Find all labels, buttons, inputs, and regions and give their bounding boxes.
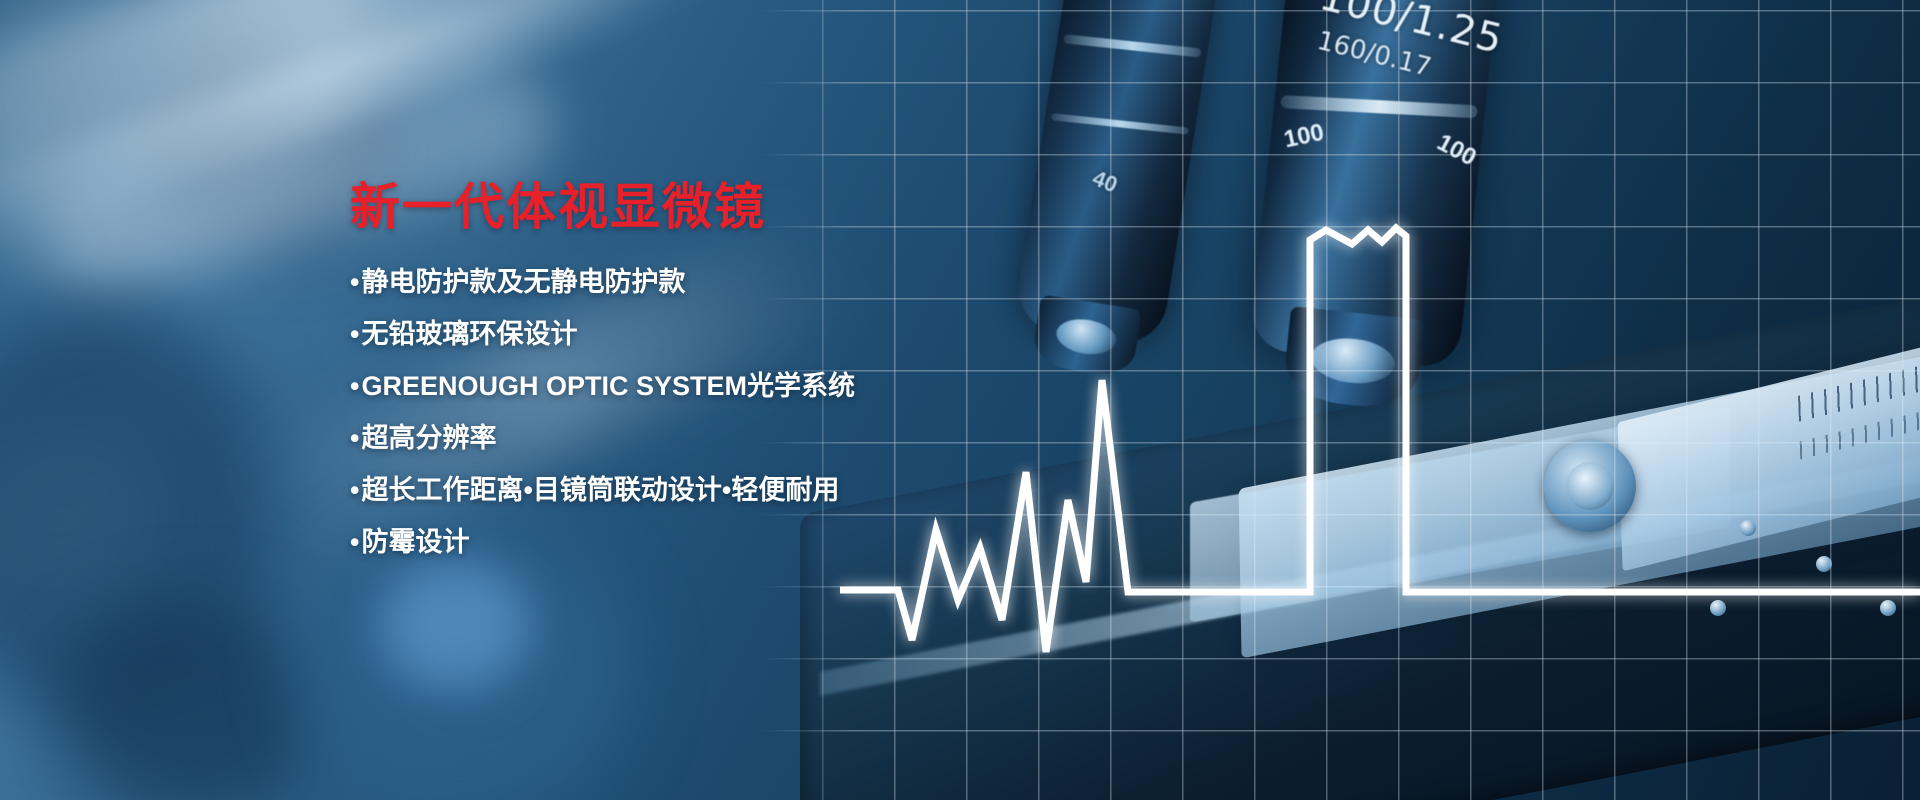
stage-screw	[1710, 600, 1726, 616]
list-item: •防霉设计	[350, 529, 1070, 556]
list-item-label: 超高分辨率	[361, 423, 496, 453]
feature-list: •静电防护款及无静电防护款 •无铅玻璃环保设计 •GREENOUGH OPTIC…	[350, 269, 1070, 556]
list-item-label: 静电防护款及无静电防护款	[361, 267, 685, 297]
objective-magnification-label: 40	[1089, 165, 1121, 198]
stage-screw	[1740, 520, 1756, 536]
lens-band	[1063, 34, 1201, 57]
hero-banner: 40 100/1.25 160/0.17 100 100 新一代体视显微镜 •静…	[0, 0, 1920, 800]
stage-screw	[1880, 600, 1896, 616]
bullet-marker: •	[350, 267, 359, 297]
stage-knob	[1544, 440, 1636, 532]
microscope-photo: 40 100/1.25 160/0.17 100 100	[940, 0, 1920, 800]
list-item: •超高分辨率	[350, 425, 1070, 452]
bullet-marker: •	[350, 319, 359, 349]
bullet-marker: •	[350, 475, 359, 505]
bullet-marker: •	[350, 371, 359, 401]
objective-lens-right: 100/1.25 160/0.17 100 100	[1249, 0, 1502, 370]
list-item-label: GREENOUGH OPTIC SYSTEM光学系统	[361, 371, 855, 401]
lens-band	[1281, 95, 1479, 118]
list-item-label: 超长工作距离•目镜筒联动设计•轻便耐用	[361, 475, 839, 505]
objective-ring-label-right: 100	[1432, 129, 1481, 173]
list-item-label: 防霉设计	[361, 527, 469, 557]
objective-ring-label-left: 100	[1281, 119, 1326, 155]
bullet-marker: •	[350, 527, 359, 557]
lens-band	[1051, 113, 1189, 134]
bullet-marker: •	[350, 423, 359, 453]
list-item: •静电防护款及无静电防护款	[350, 269, 1070, 296]
list-item: •无铅玻璃环保设计	[350, 321, 1070, 348]
banner-text-block: 新一代体视显微镜 •静电防护款及无静电防护款 •无铅玻璃环保设计 •GREENO…	[350, 180, 1070, 581]
list-item-label: 无铅玻璃环保设计	[361, 319, 577, 349]
list-item: •超长工作距离•目镜筒联动设计•轻便耐用	[350, 477, 1070, 504]
page-title: 新一代体视显微镜	[350, 180, 1070, 235]
stage-screw	[1816, 556, 1832, 572]
list-item: •GREENOUGH OPTIC SYSTEM光学系统	[350, 373, 1070, 400]
